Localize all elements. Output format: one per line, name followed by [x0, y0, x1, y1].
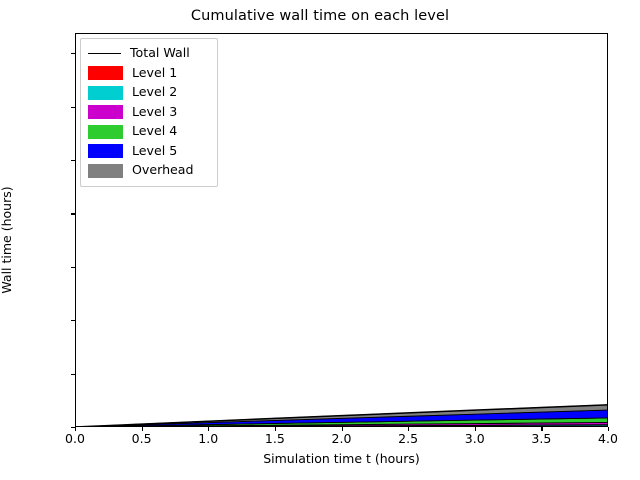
x-axis-label: Simulation time t (hours)	[75, 451, 608, 466]
x-tick-label: 3.5	[531, 431, 551, 446]
x-tick-mark	[475, 427, 476, 431]
legend-item-level-5[interactable]: Level 5	[88, 142, 211, 162]
x-tick-label: 3.0	[465, 431, 485, 446]
x-tick-mark	[541, 427, 542, 431]
legend-color-swatch-icon	[88, 66, 123, 80]
x-tick-mark	[608, 427, 609, 431]
legend-item-level-4[interactable]: Level 4	[88, 122, 211, 142]
x-tick-mark	[208, 427, 209, 431]
legend-line-swatch-icon	[88, 48, 121, 60]
legend-item-label: Level 4	[132, 125, 177, 138]
x-tick-mark	[142, 427, 143, 431]
legend-color-swatch-icon	[88, 144, 123, 158]
x-tick-mark	[342, 427, 343, 431]
legend-item-label: Overhead	[132, 164, 194, 177]
x-tick-label: 2.5	[398, 431, 418, 446]
x-tick-label: 2.0	[332, 431, 352, 446]
x-tick-label: 4.0	[598, 431, 618, 446]
legend-item-label: Level 5	[132, 145, 177, 158]
legend-item-label: Level 3	[132, 106, 177, 119]
legend-item-level-3[interactable]: Level 3	[88, 103, 211, 123]
x-tick-mark	[275, 427, 276, 431]
legend-color-swatch-icon	[88, 105, 123, 119]
legend-item-overhead[interactable]: Overhead	[88, 161, 211, 181]
chart-figure: Cumulative wall time on each level Wall …	[0, 0, 640, 480]
legend-item-total-wall[interactable]: Total Wall	[88, 44, 211, 64]
x-tick-label: 1.0	[198, 431, 218, 446]
chart-legend[interactable]: Total WallLevel 1Level 2Level 3Level 4Le…	[80, 38, 218, 187]
legend-item-label: Level 1	[132, 67, 177, 80]
x-tick-label: 0.0	[65, 431, 85, 446]
legend-item-level-2[interactable]: Level 2	[88, 83, 211, 103]
x-tick-mark	[75, 427, 76, 431]
legend-color-swatch-icon	[88, 86, 123, 100]
x-tick-label: 0.5	[132, 431, 152, 446]
legend-line-glyph	[88, 53, 121, 54]
legend-color-swatch-icon	[88, 125, 123, 139]
legend-color-swatch-icon	[88, 164, 123, 178]
legend-item-label: Total Wall	[130, 47, 190, 60]
x-tick-mark	[408, 427, 409, 431]
x-tick-label: 1.5	[265, 431, 285, 446]
legend-item-label: Level 2	[132, 86, 177, 99]
legend-item-level-1[interactable]: Level 1	[88, 64, 211, 84]
